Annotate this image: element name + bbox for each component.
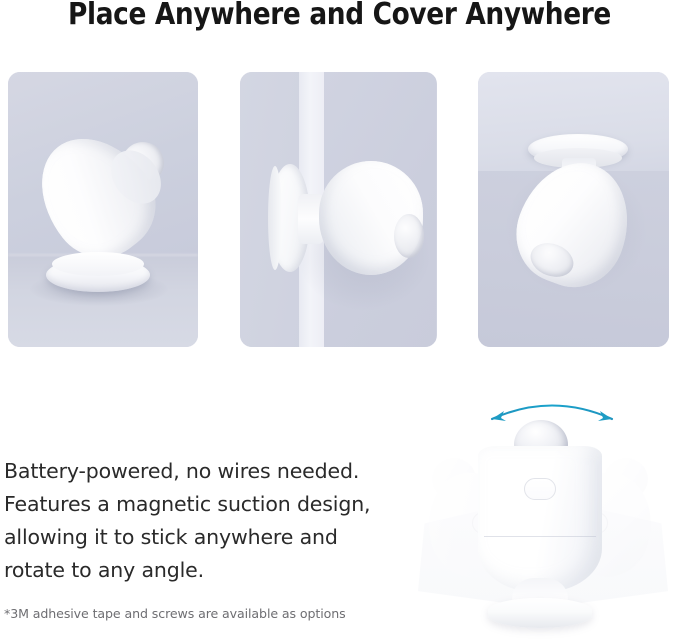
hero-sensor-front <box>478 420 602 626</box>
feature-description: Battery-powered, no wires needed. Featur… <box>4 455 396 587</box>
panel-desk-mount <box>8 72 198 347</box>
product-feature-page: Place Anywhere and Cover Anywhere <box>0 0 679 639</box>
ceiling-mounted-sensor <box>504 134 654 294</box>
hero-sensor-body <box>478 446 602 592</box>
ceiling-sensor-body <box>502 147 646 300</box>
mounting-panels-row <box>8 72 669 347</box>
panel-ceiling-mount <box>478 72 669 347</box>
desk-magnetic-base-top <box>52 252 144 276</box>
hero-housing-seam <box>484 536 596 537</box>
wall-suction-pad-rim <box>268 166 282 270</box>
footnote-text: *3M adhesive tape and screws are availab… <box>4 605 424 622</box>
rotating-sensor-illustration <box>400 392 679 639</box>
hero-magnetic-base <box>488 598 592 628</box>
rotation-arrow-icon <box>482 394 622 434</box>
wall-mounted-sensor <box>268 160 428 278</box>
wall-sensor-lens <box>394 214 424 258</box>
panel-wall-mount <box>240 72 437 347</box>
hero-front-button[interactable] <box>524 478 556 500</box>
page-title: Place Anywhere and Cover Anywhere <box>41 0 639 34</box>
